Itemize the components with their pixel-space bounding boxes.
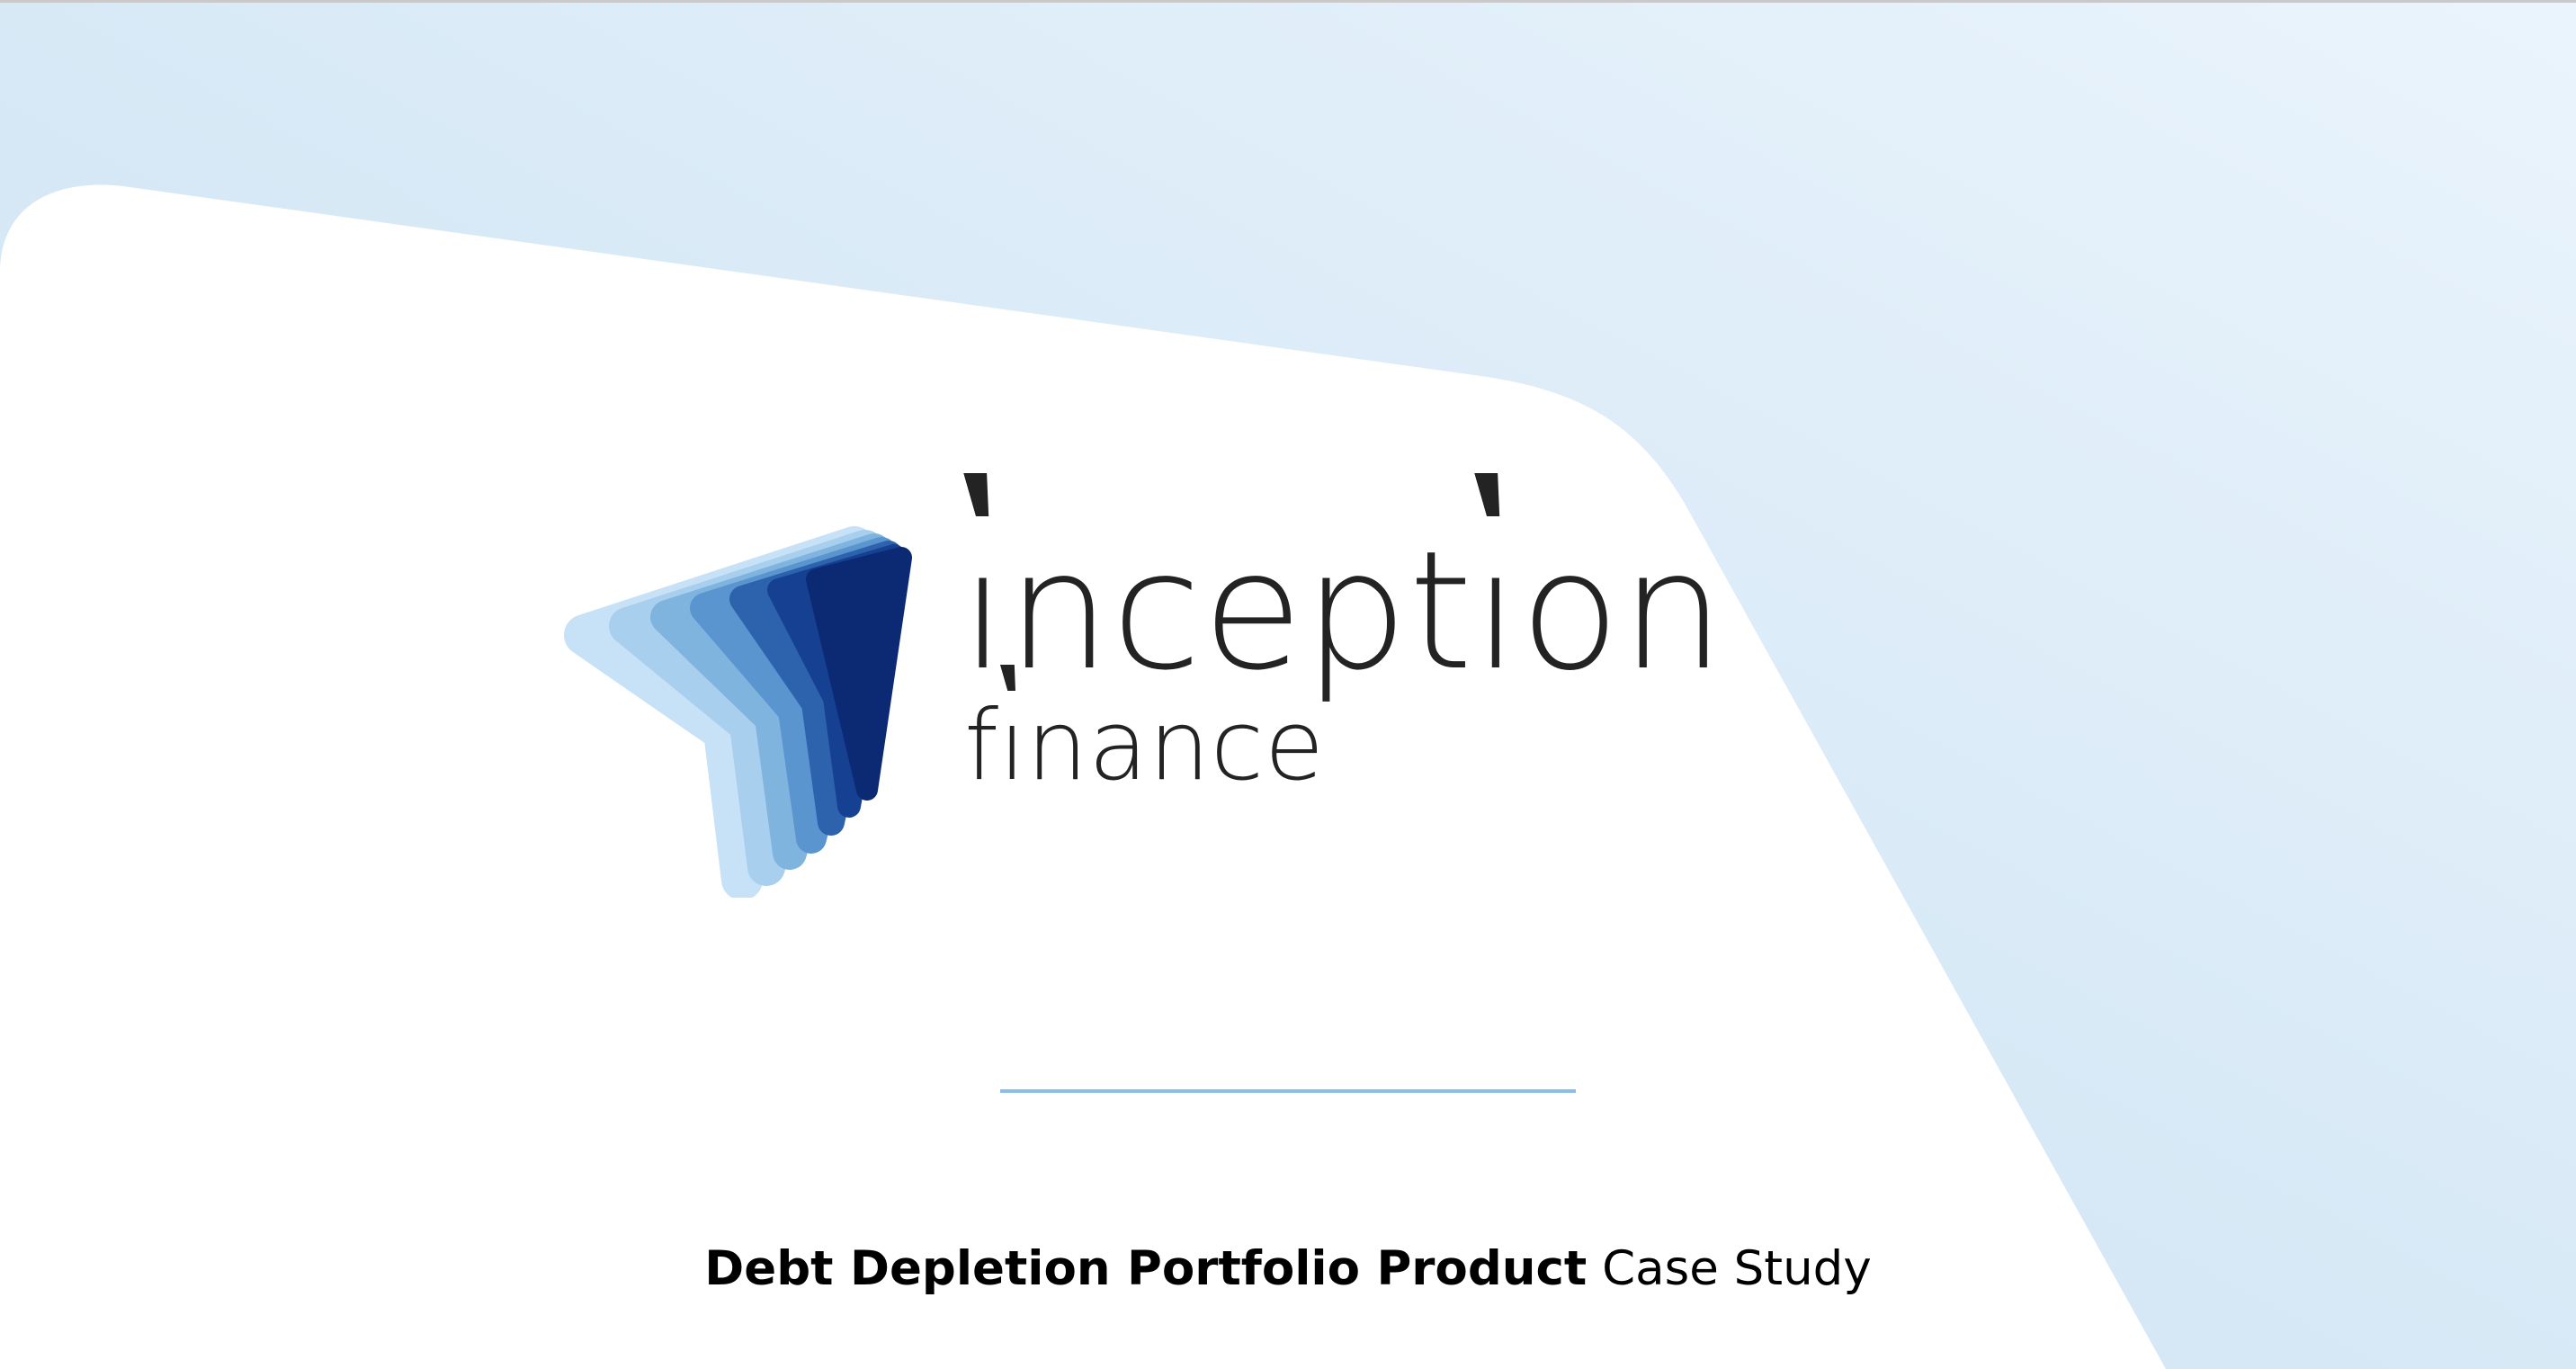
caption-remainder: Case Study bbox=[1587, 1241, 1871, 1296]
logo-lockup: ınceptıon fınance bbox=[558, 520, 2033, 898]
i-tittle-wedge-icon bbox=[1474, 473, 1510, 516]
glyph-i-3: ı bbox=[999, 698, 1027, 795]
title-slide: ınceptıon fınance Debt Depletion Portfol… bbox=[0, 0, 2576, 1369]
glyph-i-1: ı bbox=[961, 529, 1006, 693]
wordmark-inception: ınceptıon bbox=[961, 529, 1725, 693]
i-tittle-wedge-icon bbox=[963, 473, 999, 516]
glyph-i-2: ı bbox=[1473, 529, 1519, 693]
wordmark: ınceptıon fınance bbox=[961, 520, 1725, 795]
slide-content: ınceptıon fınance Debt Depletion Portfol… bbox=[0, 3, 2576, 1369]
divider-rule bbox=[1000, 1089, 1576, 1093]
wordmark-finance: fınance bbox=[964, 698, 1725, 795]
slide-caption: Debt Depletion Portfolio Product Case St… bbox=[0, 1242, 2576, 1297]
caption-emphasis: Debt Depletion Portfolio Product bbox=[704, 1241, 1587, 1296]
inception-arrow-mark-icon bbox=[558, 520, 935, 898]
